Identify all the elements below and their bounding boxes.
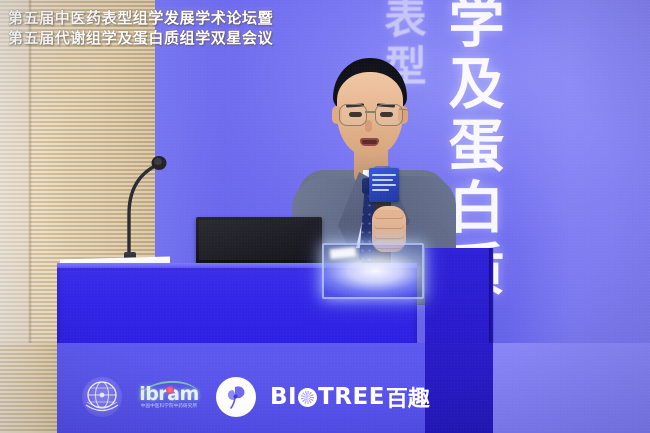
headline-overlay: 第五届中医药表型组学发展学术论坛暨 第五届代谢组学及蛋白质组学双星会议 [8,8,298,48]
mic-flag-line-1 [372,174,396,176]
headline-line-1: 第五届中医药表型组学发展学术论坛暨 [8,8,298,28]
mic-flag-line-4 [372,189,389,191]
laptop-screen [199,220,319,260]
biotree-text-chinese: 百趣 [386,381,430,413]
eyeglass-lens-right [375,104,403,126]
finger-2 [374,220,404,228]
biotree-text-tree: TREE [318,384,385,410]
banner-dark-strip [425,343,493,433]
conference-photo: 表型 学及蛋白质 第五届中医药表型组学发展学术论坛暨 第五届代谢组学及蛋白质组学… [0,0,650,433]
banner-wood-left [0,343,57,433]
banner-light-right [493,343,650,433]
biotree-globe-o-icon [298,388,317,407]
finger-3 [374,230,404,238]
ibram-subtext: 中国中医科学院中药研究所 [141,404,197,410]
eyeglass-bridge [365,111,375,113]
eyeglass-lens-left [339,104,367,126]
logo-biotree-wordmark: BI TREE 百趣 [270,381,430,413]
ibram-dot-icon [166,386,174,394]
gooseneck-microphone [115,140,195,270]
biotree-text-bi: BI [270,384,297,410]
mic-flag-line-2 [372,179,393,181]
eyeglasses [339,104,401,126]
mic-flag-line-3 [372,184,396,186]
headline-line-2: 第五届代谢组学及蛋白质组学双星会议 [8,28,298,48]
sponsor-logo-row: ibram 中国中医科学院中药研究所 BI TREE 百趣 [82,374,430,420]
finger-1 [374,210,404,218]
mouth-interior [362,140,377,144]
logo-biotree-mark [216,377,256,417]
logo-cacms-emblem [82,377,122,417]
logo-ibram: ibram 中国中医科学院中药研究所 [136,377,202,417]
